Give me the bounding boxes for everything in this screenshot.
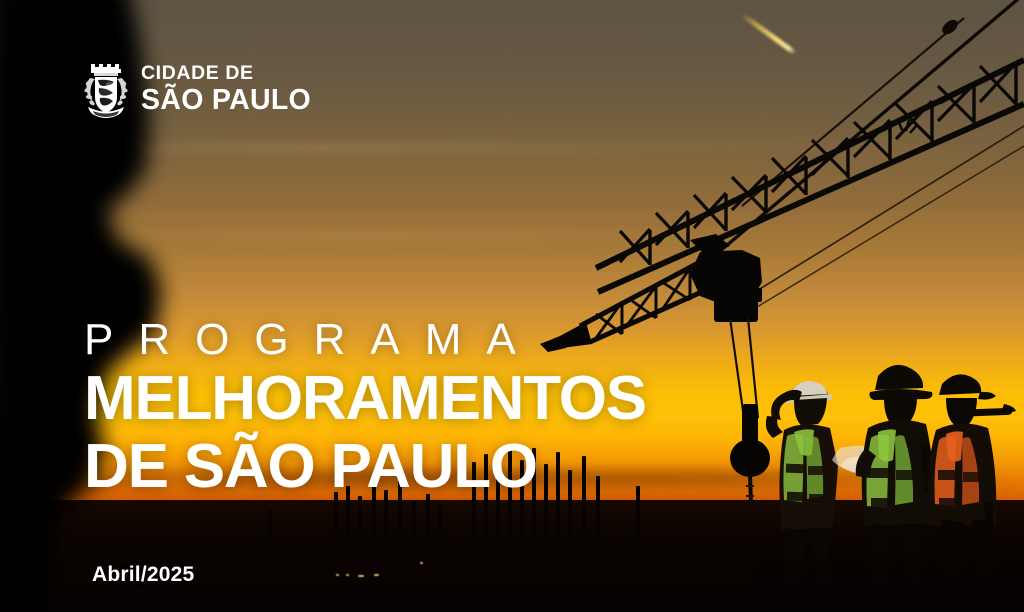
city-light	[336, 574, 339, 576]
city-light	[346, 574, 349, 576]
rebar-icon	[412, 502, 416, 540]
sao-paulo-coat-of-arms-icon	[82, 58, 130, 120]
rebar-icon	[358, 496, 362, 540]
title-line-de-sao-paulo: DE SÃO PAULO	[84, 436, 646, 498]
city-light	[358, 575, 364, 577]
construction-workers-icon	[754, 352, 1024, 612]
logo-line-2: SÃO PAULO	[141, 86, 311, 115]
title-line-programa: PROGRAMA	[84, 318, 646, 362]
city-light	[374, 574, 379, 576]
rebar-icon	[268, 510, 272, 540]
title-line-melhoramentos: MELHORAMENTOS	[84, 368, 646, 430]
date-label: Abril/2025	[92, 563, 194, 587]
page-title: PROGRAMA MELHORAMENTOS DE SÃO PAULO	[84, 318, 646, 498]
presentation-slide: CIDADE DE SÃO PAULO PROGRAMA MELHORAMENT…	[0, 0, 1024, 612]
sao-paulo-logo[interactable]: CIDADE DE SÃO PAULO	[82, 58, 311, 120]
rebar-icon	[438, 504, 442, 540]
city-light	[420, 562, 423, 564]
logo-line-1: CIDADE DE	[141, 64, 311, 84]
